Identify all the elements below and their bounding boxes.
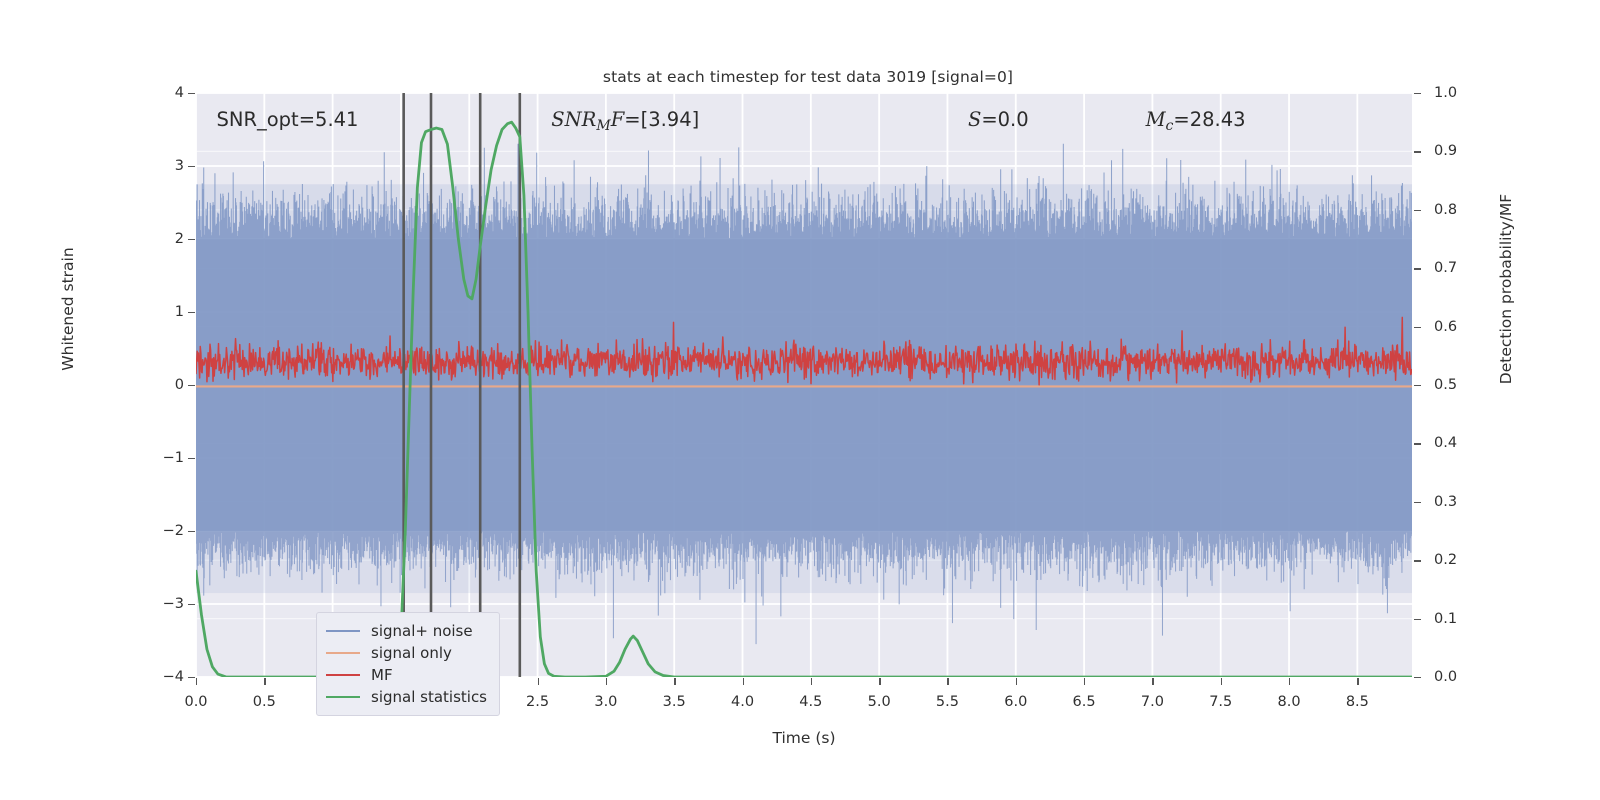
y-tick-mark-right xyxy=(1414,560,1421,561)
x-tick-label: 4.5 xyxy=(799,694,822,710)
y-tick-mark-right xyxy=(1414,151,1421,152)
annotation-0: SNR_opt=5.41 xyxy=(216,108,358,131)
plot-area: SNR_opt=5.41SNRMF=[3.94]S=0.0Mc=28.43 xyxy=(196,93,1412,677)
y-tick-label-left: −3 xyxy=(163,596,184,612)
y-tick-mark-left xyxy=(188,312,195,313)
x-tick-label: 8.5 xyxy=(1346,694,1369,710)
x-tick-mark xyxy=(1152,678,1153,685)
series-signal-noise xyxy=(196,141,1412,644)
annotation-2: S=0.0 xyxy=(968,108,1029,131)
y-tick-label-left: 4 xyxy=(175,85,184,101)
y-tick-label-right: 0.9 xyxy=(1434,143,1457,159)
y-tick-label-left: −1 xyxy=(163,450,184,466)
x-tick-mark xyxy=(538,678,539,685)
y-tick-label-right: 0.6 xyxy=(1434,319,1457,335)
legend-swatch-signal-statistics xyxy=(326,696,360,698)
y-tick-mark-right xyxy=(1414,210,1421,211)
x-tick-label: 3.0 xyxy=(594,694,617,710)
y-tick-mark-left xyxy=(188,604,195,605)
y-tick-mark-left xyxy=(188,458,195,459)
y-tick-label-left: 1 xyxy=(175,304,184,320)
x-tick-label: 8.0 xyxy=(1278,694,1301,710)
y-tick-mark-right xyxy=(1414,619,1421,620)
legend-item-signal-statistics[interactable]: signal statistics xyxy=(326,686,487,708)
y-tick-mark-right xyxy=(1414,93,1421,94)
x-tick-mark xyxy=(1016,678,1017,685)
legend-label-mf: MF xyxy=(371,666,393,684)
plot-svg xyxy=(196,93,1412,677)
x-tick-mark xyxy=(811,678,812,685)
figure-canvas: stats at each timestep for test data 301… xyxy=(0,0,1600,800)
legend-label-signal-noise: signal+ noise xyxy=(371,622,473,640)
y-tick-mark-right xyxy=(1414,677,1421,678)
y-tick-mark-right xyxy=(1414,502,1421,503)
x-tick-label: 7.0 xyxy=(1141,694,1164,710)
x-tick-label: 6.5 xyxy=(1073,694,1096,710)
x-tick-mark xyxy=(1357,678,1358,685)
x-tick-label: 0.5 xyxy=(253,694,276,710)
y-tick-label-right: 0.8 xyxy=(1434,202,1457,218)
x-tick-mark xyxy=(1221,678,1222,685)
chart-title-text: stats at each timestep for test data 301… xyxy=(603,68,1013,86)
y-tick-label-right: 0.3 xyxy=(1434,494,1457,510)
y-tick-mark-left xyxy=(188,677,195,678)
y-tick-mark-left xyxy=(188,166,195,167)
y-tick-mark-left xyxy=(188,531,195,532)
annotation-1: SNRMF=[3.94] xyxy=(551,108,699,134)
legend-item-mf[interactable]: MF xyxy=(326,664,487,686)
legend-label-signal-statistics: signal statistics xyxy=(371,688,487,706)
y-tick-label-right: 0.0 xyxy=(1434,669,1457,685)
x-tick-mark xyxy=(1084,678,1085,685)
y-tick-mark-left xyxy=(188,239,195,240)
legend-item-signal-noise[interactable]: signal+ noise xyxy=(326,620,487,642)
x-tick-mark xyxy=(606,678,607,685)
x-tick-mark xyxy=(196,678,197,685)
legend-item-signal-only[interactable]: signal only xyxy=(326,642,487,664)
annotation-3: Mc=28.43 xyxy=(1146,108,1246,134)
y-tick-mark-left xyxy=(188,385,195,386)
x-tick-mark xyxy=(947,678,948,685)
x-tick-label: 5.0 xyxy=(868,694,891,710)
x-tick-label: 3.5 xyxy=(663,694,686,710)
y-tick-label-right: 0.7 xyxy=(1434,260,1457,276)
y-tick-mark-right xyxy=(1414,327,1421,328)
x-tick-mark xyxy=(879,678,880,685)
y-tick-mark-right xyxy=(1414,268,1421,269)
y-tick-label-left: 2 xyxy=(175,231,184,247)
y-tick-label-right: 0.2 xyxy=(1434,552,1457,568)
x-tick-label: 5.5 xyxy=(936,694,959,710)
y-tick-label-left: 0 xyxy=(175,377,184,393)
x-tick-mark xyxy=(743,678,744,685)
x-tick-mark xyxy=(1289,678,1290,685)
y-axis-label-right: Detection probability/MF xyxy=(1497,129,1515,449)
y-tick-mark-right xyxy=(1414,385,1421,386)
x-tick-label: 4.0 xyxy=(731,694,754,710)
y-tick-mark-left xyxy=(188,93,195,94)
y-axis-label-left: Whitened strain xyxy=(59,179,77,439)
legend-swatch-mf xyxy=(326,674,360,676)
y-tick-label-right: 1.0 xyxy=(1434,85,1457,101)
y-tick-label-right: 0.1 xyxy=(1434,611,1457,627)
legend-swatch-signal-only xyxy=(326,652,360,654)
x-tick-mark xyxy=(264,678,265,685)
legend-swatch-signal-noise xyxy=(326,630,360,632)
x-tick-label: 7.5 xyxy=(1209,694,1232,710)
y-tick-mark-right xyxy=(1414,443,1421,444)
chart-title: stats at each timestep for test data 301… xyxy=(0,68,1600,86)
y-tick-label-left: −4 xyxy=(163,669,184,685)
x-tick-mark xyxy=(674,678,675,685)
y-tick-label-right: 0.5 xyxy=(1434,377,1457,393)
x-tick-label: 2.5 xyxy=(526,694,549,710)
x-tick-label: 6.0 xyxy=(1004,694,1027,710)
y-tick-label-right: 0.4 xyxy=(1434,435,1457,451)
legend[interactable]: signal+ noise signal only MF signal stat… xyxy=(316,612,500,716)
legend-label-signal-only: signal only xyxy=(371,644,452,662)
x-tick-label: 0.0 xyxy=(184,694,207,710)
x-axis-label: Time (s) xyxy=(196,729,1412,747)
y-tick-label-left: −2 xyxy=(163,523,184,539)
y-tick-label-left: 3 xyxy=(175,158,184,174)
